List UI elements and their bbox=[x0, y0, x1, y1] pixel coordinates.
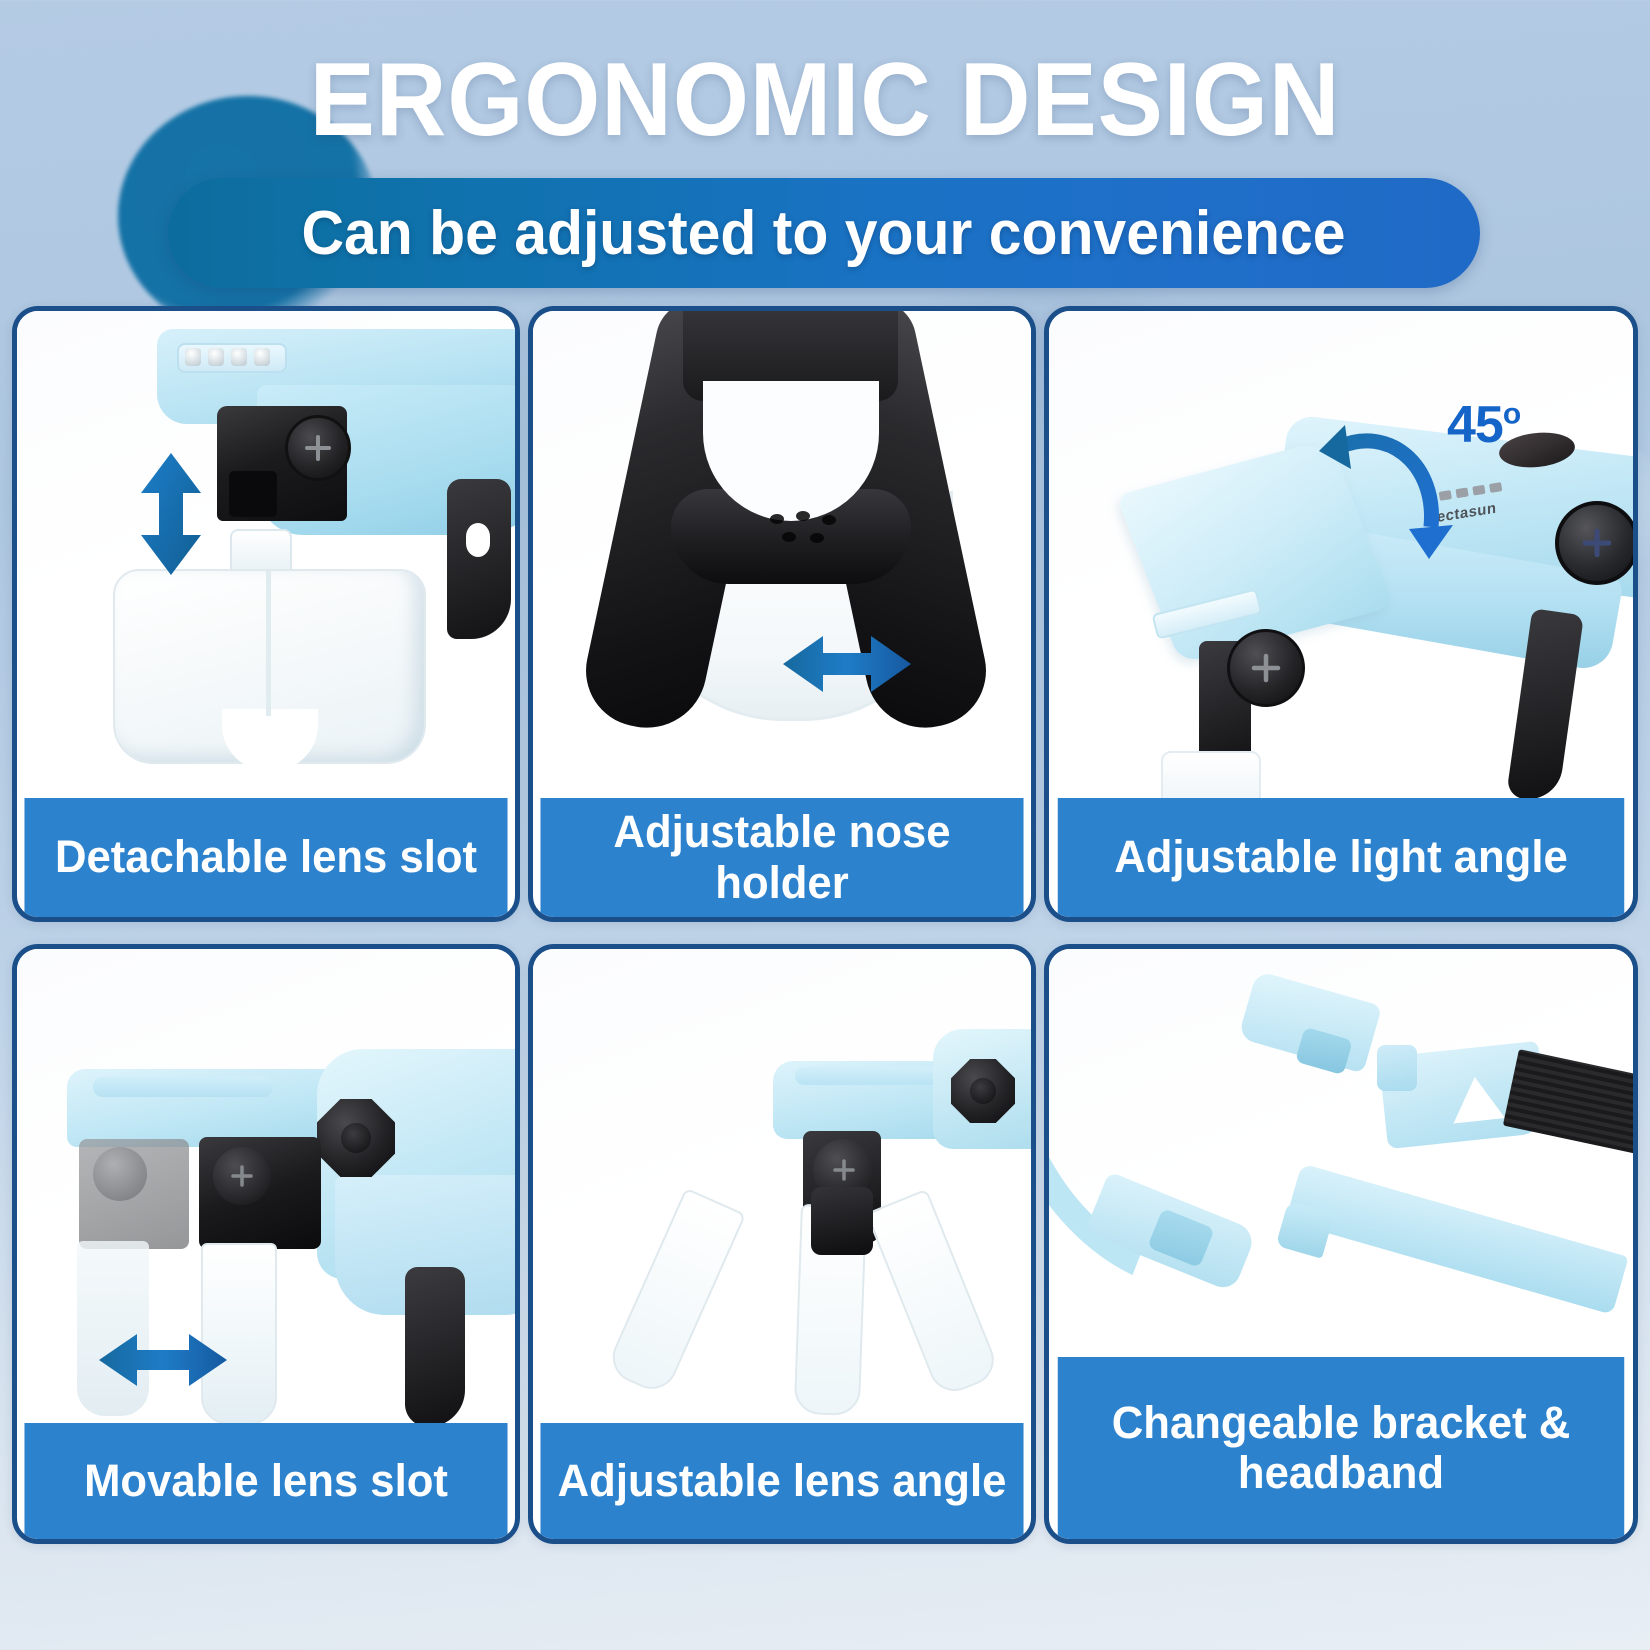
card-1-caption: Detachable lens slot bbox=[24, 798, 507, 917]
hinge-screw-cross-icon bbox=[1251, 653, 1281, 683]
lens-hinge-cap bbox=[811, 1187, 873, 1255]
card-3-caption: Adjustable light angle bbox=[1058, 798, 1624, 917]
card-6-caption-line2: headband bbox=[1238, 1448, 1444, 1498]
card-2-caption: Adjustable nose holder bbox=[540, 798, 1023, 917]
card-6-caption-line1: Changeable bracket & bbox=[1112, 1398, 1570, 1448]
card-6-photo bbox=[1049, 949, 1633, 1367]
ghost-bracket-knob bbox=[93, 1147, 147, 1201]
subtitle-text: Can be adjusted to your convenience bbox=[302, 198, 1346, 269]
card-5-caption: Adjustable lens angle bbox=[540, 1423, 1023, 1539]
side-screw-cross-icon bbox=[1583, 529, 1611, 557]
card-2-photo bbox=[533, 311, 1031, 808]
card-1-photo bbox=[17, 311, 515, 808]
card-5-photo bbox=[533, 949, 1031, 1433]
led-bulbs bbox=[185, 348, 270, 366]
active-bracket-cross-icon bbox=[231, 1165, 253, 1187]
subtitle-pill: Can be adjusted to your convenience bbox=[168, 178, 1480, 288]
card-adjustable-nose-holder[interactable]: Adjustable nose holder bbox=[528, 306, 1036, 922]
octagon-knob-center-2 bbox=[970, 1078, 996, 1104]
bracket-slot bbox=[229, 471, 277, 517]
screw-cross-icon bbox=[305, 435, 331, 461]
card-4-photo bbox=[17, 949, 515, 1433]
angle-label: 45o bbox=[1447, 395, 1520, 455]
card-6-caption: Changeable bracket & headband bbox=[1058, 1357, 1624, 1539]
temple-arm-left bbox=[405, 1267, 465, 1427]
horizontal-double-arrow-icon-2 bbox=[95, 1329, 231, 1391]
light-bar-groove bbox=[93, 1077, 273, 1097]
card-4-caption: Movable lens slot bbox=[24, 1423, 507, 1539]
card-adjustable-lens-angle[interactable]: Adjustable lens angle bbox=[528, 944, 1036, 1544]
hinge-knob-cross-icon bbox=[833, 1159, 855, 1181]
nose-pad-hole bbox=[466, 523, 490, 557]
page-title: ERGONOMIC DESIGN bbox=[50, 48, 1601, 152]
card-3-photo: Vectasun 45o bbox=[1049, 311, 1633, 808]
octagon-knob-center bbox=[341, 1123, 371, 1153]
feature-grid: Detachable lens slot bbox=[0, 300, 1650, 1650]
header: ERGONOMIC DESIGN Can be adjusted to your… bbox=[0, 0, 1650, 300]
lens-divider bbox=[266, 571, 271, 716]
card-detachable-lens-slot[interactable]: Detachable lens slot bbox=[12, 306, 520, 922]
horizontal-double-arrow-icon bbox=[779, 631, 915, 697]
card-changeable-bracket-headband[interactable]: Changeable bracket & headband bbox=[1044, 944, 1638, 1544]
vertical-double-arrow-icon bbox=[127, 449, 215, 579]
strap-buckle-tab bbox=[1377, 1045, 1417, 1091]
grip-dimples bbox=[765, 509, 849, 551]
visor-bar-groove bbox=[795, 1067, 955, 1085]
card-adjustable-light-angle[interactable]: Vectasun 45o Adjustable light angle bbox=[1044, 306, 1638, 922]
nose-pad-right bbox=[447, 479, 511, 639]
card-movable-lens-slot[interactable]: Movable lens slot bbox=[12, 944, 520, 1544]
